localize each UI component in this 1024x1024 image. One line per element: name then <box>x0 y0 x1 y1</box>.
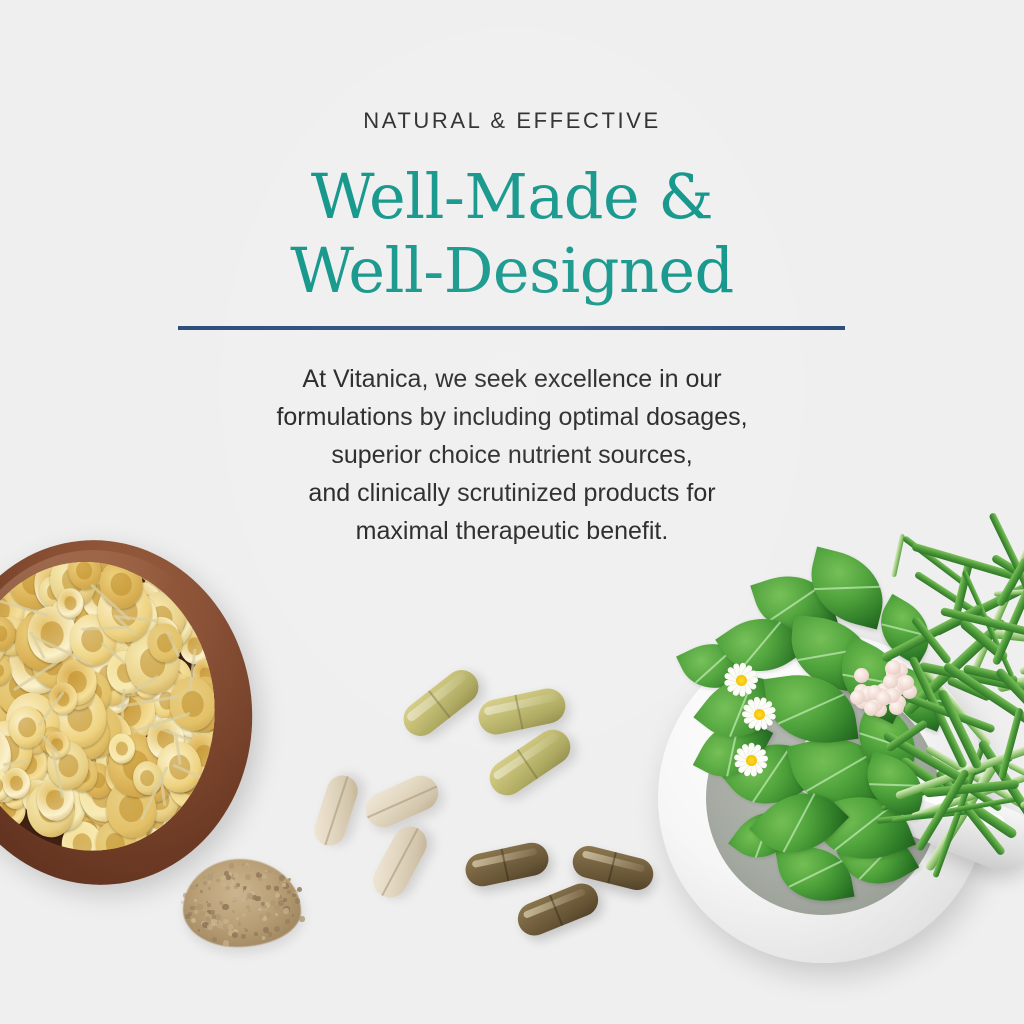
brown-capsule <box>462 840 551 890</box>
body-line-3: superior choice nutrient sources, <box>0 436 1024 474</box>
daisy-center <box>736 675 747 686</box>
promo-graphic-canvas: NATURAL & EFFECTIVE Well-Made & Well-Des… <box>0 0 1024 1024</box>
title-divider <box>178 326 845 330</box>
headline-line-1: Well-Made & <box>0 160 1024 234</box>
flower-floret <box>876 691 891 706</box>
body-line-1: At Vitanica, we seek excellence in our <box>0 360 1024 398</box>
mortar-and-pestle-image <box>640 545 1024 1024</box>
flower-floret <box>850 690 865 705</box>
cream-tablet <box>367 820 433 903</box>
daisy-flower <box>724 663 758 697</box>
daisy-center <box>754 709 765 720</box>
green-capsule <box>483 723 577 802</box>
cream-tablet <box>360 770 444 833</box>
flower-floret <box>883 674 898 689</box>
body-line-5: maximal therapeutic benefit. <box>0 512 1024 550</box>
headline-line-2: Well-Designed <box>0 234 1024 308</box>
green-capsule <box>397 663 486 743</box>
body-paragraph: At Vitanica, we seek excellence in our f… <box>0 360 1024 550</box>
daisy-flower <box>734 743 768 777</box>
body-line-4: and clinically scrutinized products for <box>0 474 1024 512</box>
daisy-flower <box>742 697 776 731</box>
daisy-center <box>746 755 757 766</box>
brown-capsule <box>513 878 603 940</box>
pink-flower-cluster <box>846 653 920 727</box>
eyebrow-label: NATURAL & EFFECTIVE <box>0 108 1024 134</box>
page-title: Well-Made & Well-Designed <box>0 160 1024 308</box>
body-line-2: formulations by including optimal dosage… <box>0 398 1024 436</box>
flower-floret <box>899 675 914 690</box>
cream-tablet <box>310 771 362 849</box>
flower-floret <box>854 668 869 683</box>
